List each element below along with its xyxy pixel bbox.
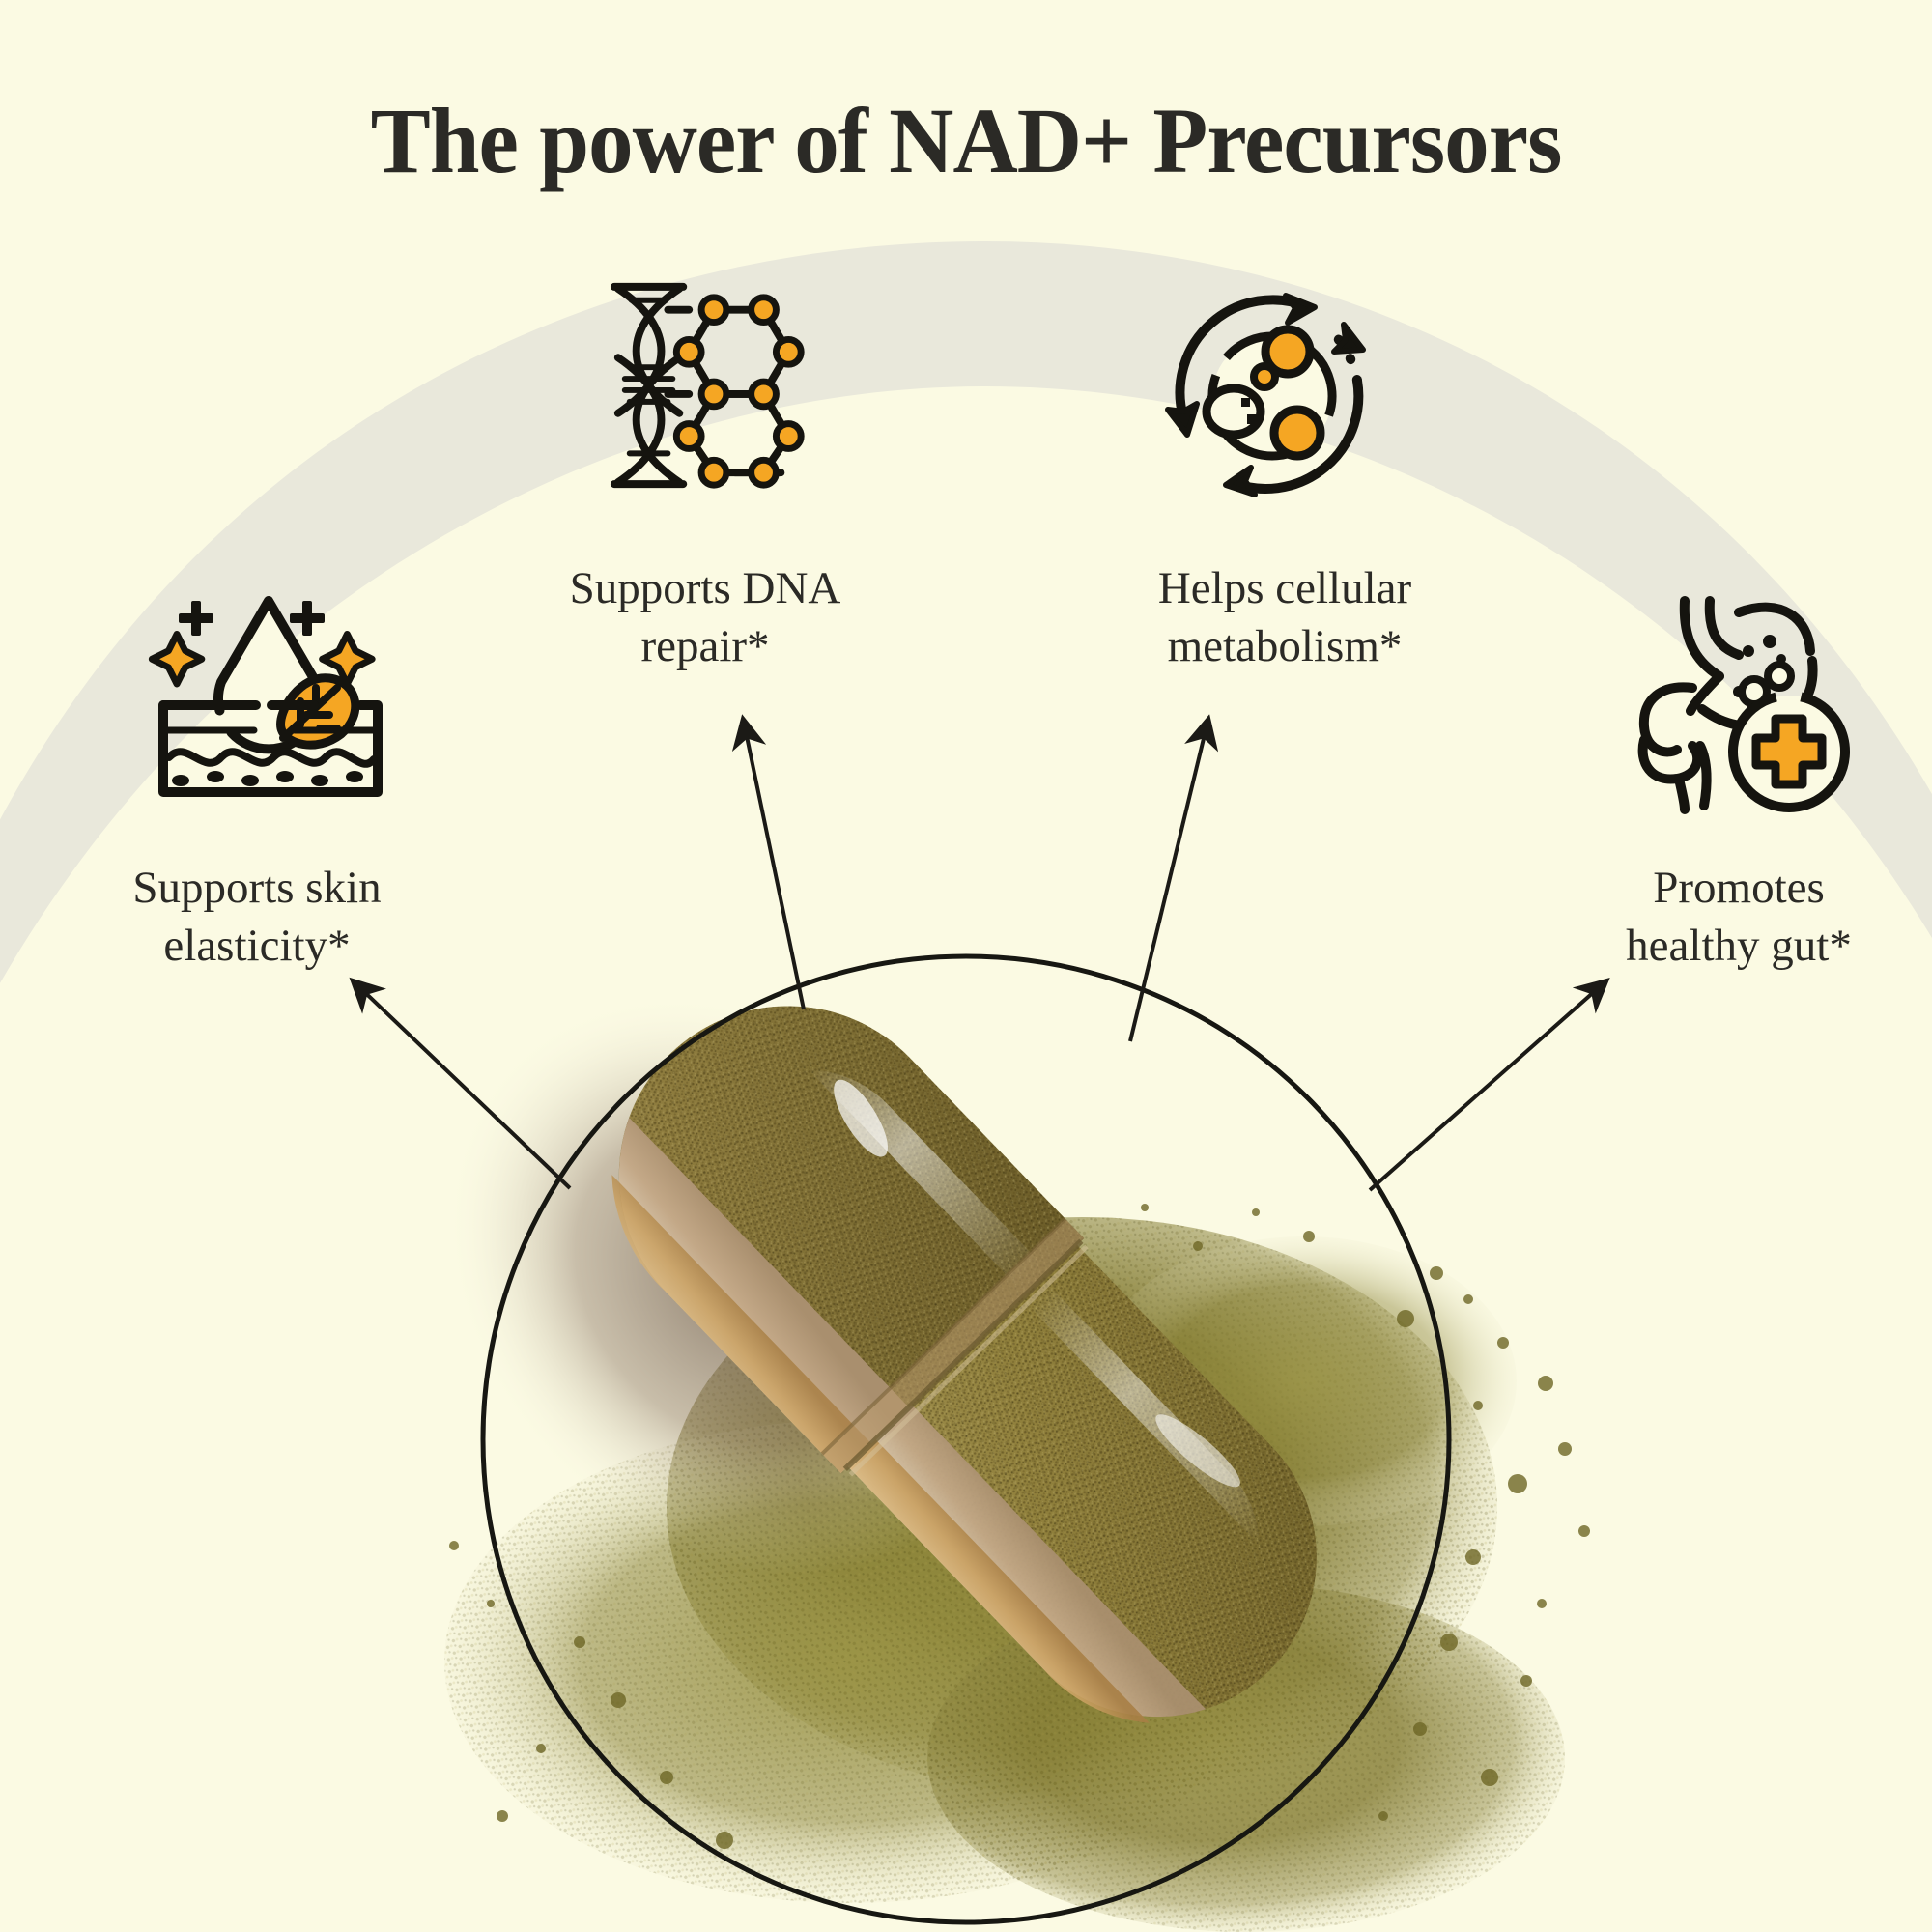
feature-label-dna: Supports DNA repair* — [483, 560, 927, 675]
arrow-to-skin — [355, 983, 570, 1188]
arrow-to-gut — [1370, 983, 1604, 1190]
capsule-body-half — [847, 1245, 1382, 1783]
infographic-canvas: The power of NAD+ Precursors — [0, 0, 1932, 1932]
arrow-to-dna — [744, 723, 804, 1009]
product-circle-outline — [483, 956, 1449, 1922]
cell-recycle-arrows-icon — [1164, 292, 1378, 498]
arrow-to-metabolism — [1130, 723, 1207, 1041]
stomach-intestine-plus-icon — [1634, 591, 1862, 815]
capsule-pill — [549, 936, 1389, 1790]
feature-label-metabolism: Helps cellular metabolism* — [1072, 560, 1497, 675]
feature-label-skin: Supports skin elasticity* — [54, 860, 460, 975]
powder-spill — [444, 1204, 1590, 1932]
dna-helix-molecule-icon — [601, 274, 821, 497]
feature-label-gut: Promotes healthy gut* — [1546, 860, 1932, 975]
skin-layer-droplet-icon — [140, 587, 401, 802]
capsule-shadow — [328, 878, 1140, 1692]
capsule-cap-half — [549, 936, 1084, 1473]
page-title: The power of NAD+ Precursors — [29, 93, 1903, 190]
